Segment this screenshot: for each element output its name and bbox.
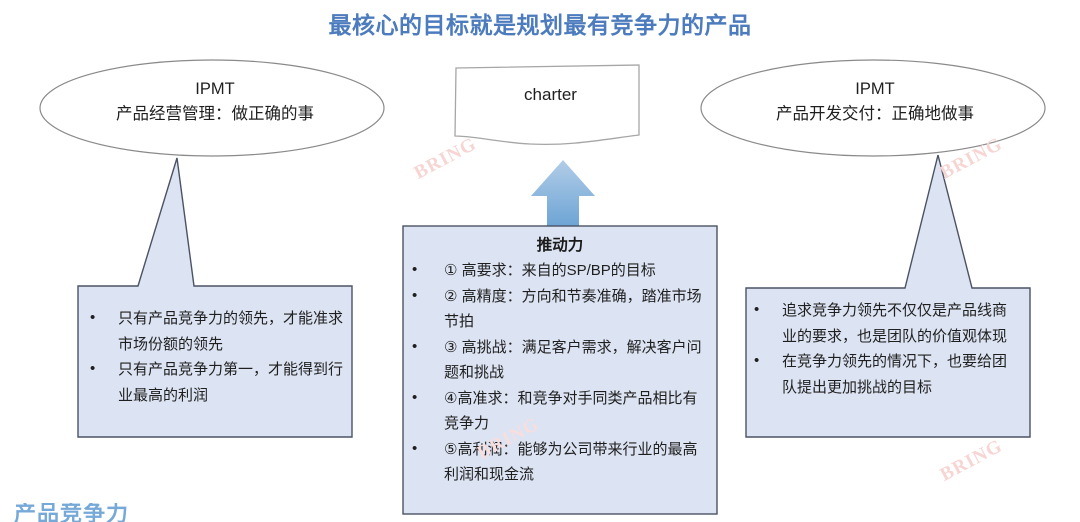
list-item: 只有产品竞争力的领先，才能准求市场份额的领先: [86, 306, 348, 357]
ellipse-right-line1: IPMT: [700, 77, 1050, 102]
ellipse-right-line2: 产品开发交付：正确地做事: [700, 102, 1050, 127]
list-item: ④高准求：和竞争对手同类产品相比有竞争力: [408, 386, 712, 437]
center-box-bullet-list: ① 高要求：来自的SP/BP的目标 ② 高精度：方向和节奏准确，踏准市场节拍 ③…: [408, 258, 712, 488]
center-box-content: 推动力 ① 高要求：来自的SP/BP的目标 ② 高精度：方向和节奏准确，踏准市场…: [408, 235, 712, 488]
list-item: ① 高要求：来自的SP/BP的目标: [408, 258, 712, 284]
list-item: ⑤高利润：能够为公司带来行业的最高利润和现金流: [408, 437, 712, 488]
list-item: ③ 高挑战：满足客户需求，解决客户问题和挑战: [408, 335, 712, 386]
ellipse-left-line2: 产品经营管理：做正确的事: [40, 102, 390, 127]
center-box-title: 推动力: [408, 235, 712, 257]
list-item: 追求竞争力领先不仅仅是产品线商业的要求，也是团队的价值观体现: [750, 298, 1020, 349]
left-box-content: 只有产品竞争力的领先，才能准求市场份额的领先 只有产品竞争力第一，才能得到行业最…: [86, 306, 348, 408]
charter-label: charter: [458, 85, 643, 105]
ellipse-right-label: IPMT 产品开发交付：正确地做事: [700, 77, 1050, 127]
bottom-clipped-heading: 产品竞争力: [14, 503, 314, 522]
right-box-content: 追求竞争力领先不仅仅是产品线商业的要求，也是团队的价值观体现 在竞争力领先的情况…: [750, 298, 1020, 400]
up-arrow-icon: [531, 160, 595, 228]
bottom-clipped-heading-label: 产品竞争力: [14, 503, 129, 522]
ellipse-left-label: IPMT 产品经营管理：做正确的事: [40, 77, 390, 127]
right-box-bullet-list: 追求竞争力领先不仅仅是产品线商业的要求，也是团队的价值观体现 在竞争力领先的情况…: [750, 298, 1020, 400]
list-item: 在竞争力领先的情况下，也要给团队提出更加挑战的目标: [750, 349, 1020, 400]
ellipse-left-line1: IPMT: [40, 77, 390, 102]
list-item: ② 高精度：方向和节奏准确，踏准市场节拍: [408, 284, 712, 335]
left-box-bullet-list: 只有产品竞争力的领先，才能准求市场份额的领先 只有产品竞争力第一，才能得到行业最…: [86, 306, 348, 408]
list-item: 只有产品竞争力第一，才能得到行业最高的利润: [86, 357, 348, 408]
